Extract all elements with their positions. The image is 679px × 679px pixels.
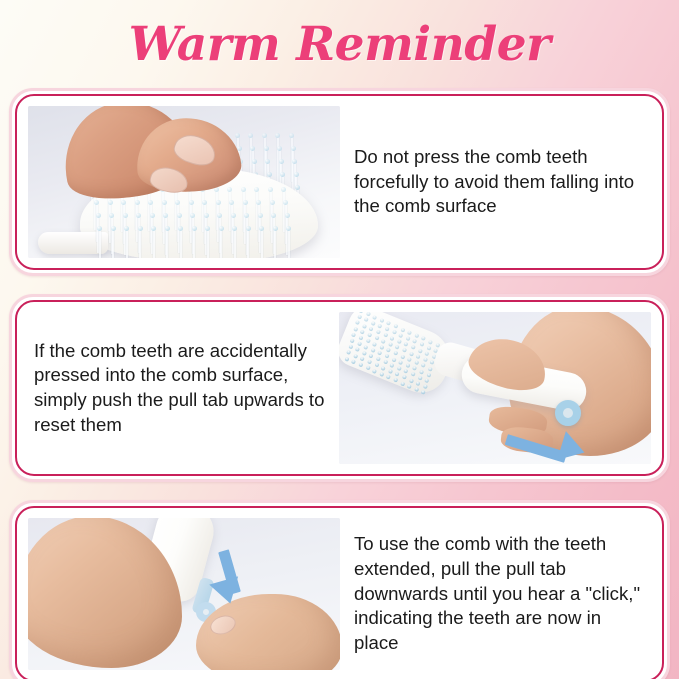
photo-hand-holding-comb bbox=[339, 312, 651, 464]
panel-1-content: Do not press the comb teeth forcefully t… bbox=[15, 94, 664, 270]
photo-fingers-pressing-comb-teeth bbox=[28, 106, 340, 258]
panel-3-caption: To use the comb with the teeth extended,… bbox=[354, 532, 651, 656]
panel-2-caption: If the comb teeth are accidentally press… bbox=[28, 339, 325, 438]
panel-2-content: If the comb teeth are accidentally press… bbox=[15, 300, 664, 476]
page-header: Warm Reminder bbox=[0, 0, 679, 88]
pull-tab-ring bbox=[555, 400, 581, 426]
page-title: Warm Reminder bbox=[129, 17, 551, 72]
panel-3-content: To use the comb with the teeth extended,… bbox=[15, 506, 664, 679]
reminder-panel-list: Do not press the comb teeth forcefully t… bbox=[0, 88, 679, 679]
panel-1-caption: Do not press the comb teeth forcefully t… bbox=[354, 145, 651, 219]
reminder-panel-1: Do not press the comb teeth forcefully t… bbox=[9, 88, 670, 276]
reminder-panel-2: If the comb teeth are accidentally press… bbox=[9, 294, 670, 482]
photo-pulling-tab-downwards bbox=[28, 518, 340, 670]
reminder-panel-3: To use the comb with the teeth extended,… bbox=[9, 500, 670, 679]
